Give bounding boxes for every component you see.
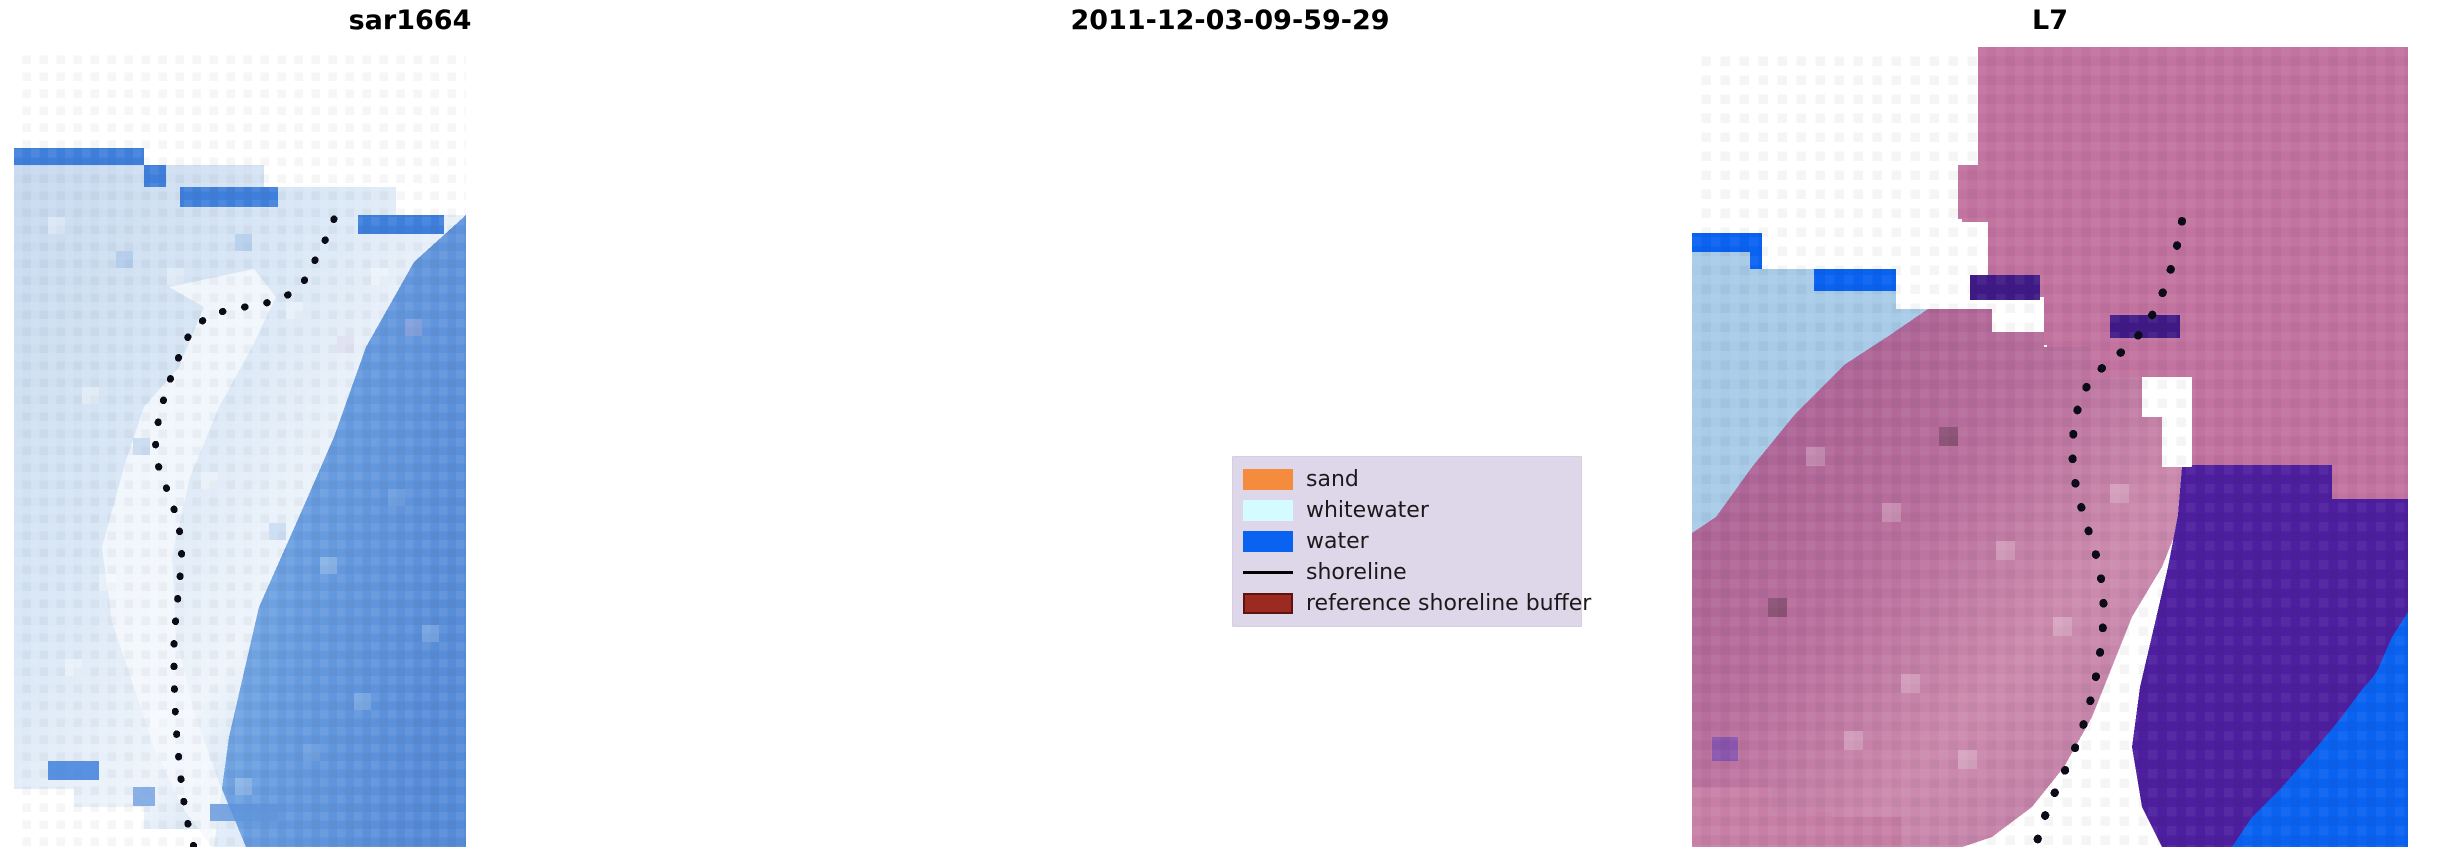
legend-label-water: water <box>1306 530 1369 554</box>
shoreline-line-icon <box>1243 562 1293 583</box>
legend-item-whitewater: whitewater <box>1243 495 1571 526</box>
panel-classified-overlay: 2011-12-03-09-59-29 <box>820 0 1640 865</box>
reference-shoreline-buffer-swatch-icon <box>1243 593 1293 614</box>
panel-3-title: L7 <box>1640 4 2460 38</box>
sand-swatch-icon <box>1243 469 1293 490</box>
panel-sar-image: sar1664 <box>0 0 820 865</box>
panel-1-axes <box>14 47 466 847</box>
water-swatch-icon <box>1243 531 1293 552</box>
legend-item-sand: sand <box>1243 464 1571 495</box>
legend-label-whitewater: whitewater <box>1306 499 1429 523</box>
legend-item-reference-shoreline-buffer: reference shoreline buffer <box>1243 588 1571 619</box>
whitewater-swatch-icon <box>1243 500 1293 521</box>
legend-label-reference-shoreline-buffer: reference shoreline buffer <box>1306 592 1591 616</box>
panel-l7-overlay: L7 <box>1640 0 2460 865</box>
panel-1-title: sar1664 <box>0 4 820 38</box>
legend-item-water: water <box>1243 526 1571 557</box>
legend: sand whitewater water shoreline referenc… <box>1232 456 1582 627</box>
legend-item-shoreline: shoreline <box>1243 557 1571 588</box>
legend-label-sand: sand <box>1306 468 1359 492</box>
legend-label-shoreline: shoreline <box>1306 561 1407 585</box>
figure-canvas: sar1664 <box>0 0 2460 865</box>
panel-2-title: 2011-12-03-09-59-29 <box>820 4 1640 38</box>
satellite-raster-rgb <box>14 47 466 847</box>
